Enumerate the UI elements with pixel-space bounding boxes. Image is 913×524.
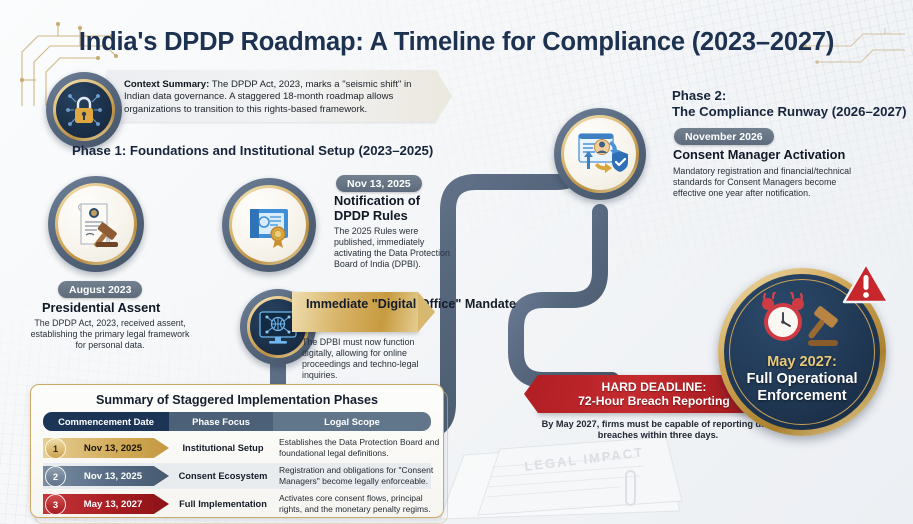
hard-deadline-line1: HARD DEADLINE: [602,380,707,395]
phase2-label-line1: Phase 2: [672,88,726,104]
table-row[interactable]: May 13, 2027 3 Full Implementation Activ… [43,491,431,517]
alarm-clock-gavel-icon [756,292,848,354]
milestone-date-pill-1: August 2023 [58,281,142,298]
milestone-node-consent-manager[interactable] [554,108,646,200]
summary-table-header-row: Commencement Date Phase Focus Logal Scop… [43,412,431,431]
banner-arrow-tip [418,292,435,332]
row-date: May 13, 2027 [84,499,143,510]
milestone-heading-2: Notification of DPDP Rules [334,194,458,223]
hard-deadline-line2: 72-Hour Breach Reporting [578,394,730,409]
row-date: Nov 13, 2025 [84,471,142,482]
context-summary-tail [436,70,452,122]
phase1-label: Phase 1: Foundations and Institutional S… [72,143,433,159]
milestone-node-presidential-assent[interactable] [48,176,144,272]
row-date: Nov 13, 2025 [84,443,142,454]
digital-office-heading: Immediate "Digital Office" Mandate [306,297,516,313]
summary-table-panel: Summary of Staggered Implementation Phas… [30,384,444,518]
page-title: India's DPDP Roadmap: A Timeline for Com… [0,28,913,57]
row-legal-scope: Registration and obligations for "Consen… [279,465,443,486]
certificate-seal-icon [240,196,298,254]
row-legal-scope: Activates core consent flows, principal … [279,493,443,514]
watermark-text: LEGAL IMPACT [524,444,645,474]
warning-triangle-icon [842,262,890,306]
row-phase-focus: Full Implementation [173,494,273,514]
digital-office-body: The DPBI must now function digitally, al… [302,337,428,381]
node-inner-face [564,118,636,190]
milestone-date-pill-2: Nov 13, 2025 [336,175,422,192]
milestone-node-dpdp-rules[interactable] [222,178,316,272]
context-summary-label: Context Summary: [124,79,209,90]
table-row[interactable]: Nov 13, 2025 2 Consent Ecosystem Registr… [43,463,431,489]
milestone-body-1: The DPDP Act, 2023, received assent, est… [30,318,190,351]
lock-shield-icon [60,86,108,134]
context-lock-node [46,72,122,148]
column-header-phase-focus: Phase Focus [169,412,273,431]
medallion-date: May 2027: [718,354,886,371]
milestone-date-pill-3: November 2026 [674,128,774,145]
row-legal-scope: Establishes the Data Protection Board an… [279,437,443,458]
row-phase-focus: Consent Ecosystem [173,466,273,486]
summary-table-title: Summary of Staggered Implementation Phas… [31,393,443,407]
banner-notch [524,375,538,413]
milestone-heading-3: Consent Manager Activation [673,148,903,163]
medallion-text: May 2027: Full Operational Enforcement [718,354,886,405]
row-phase-focus: Institutional Setup [173,438,273,458]
row-number-badge: 2 [45,466,66,487]
medallion-line1: Full Operational [746,371,857,387]
phase2-label-line2: The Compliance Runway (2026–2027) [672,104,907,120]
column-header-commencement-date: Commencement Date [43,412,169,431]
milestone-heading-1: Presidential Assent [42,301,212,316]
milestone-body-3: Mandatory registration and financial/tec… [673,166,853,199]
row-number-badge: 3 [45,494,66,515]
medallion-line2: Enforcement [757,388,846,404]
digital-office-banner: Immediate "Digital Office" Mandate [292,292,418,332]
node-inner-face [56,82,112,138]
table-row[interactable]: Nov 13, 2025 1 Institutional Setup Estab… [43,435,431,461]
column-header-legal-scope: Logal Scope [273,412,431,431]
consent-exchange-icon [571,125,629,183]
node-inner-face [232,188,306,262]
context-summary-text: Context Summary: The DPDP Act, 2023, mar… [124,79,432,116]
milestone-body-2: The 2025 Rules were published, immediate… [334,226,450,270]
node-inner-face [58,186,134,262]
scroll-gavel-icon [66,194,126,254]
row-number-badge: 1 [45,438,66,459]
final-enforcement-medallion[interactable]: May 2027: Full Operational Enforcement [718,268,886,436]
infographic-canvas: LEGAL IMPACT [0,0,913,524]
